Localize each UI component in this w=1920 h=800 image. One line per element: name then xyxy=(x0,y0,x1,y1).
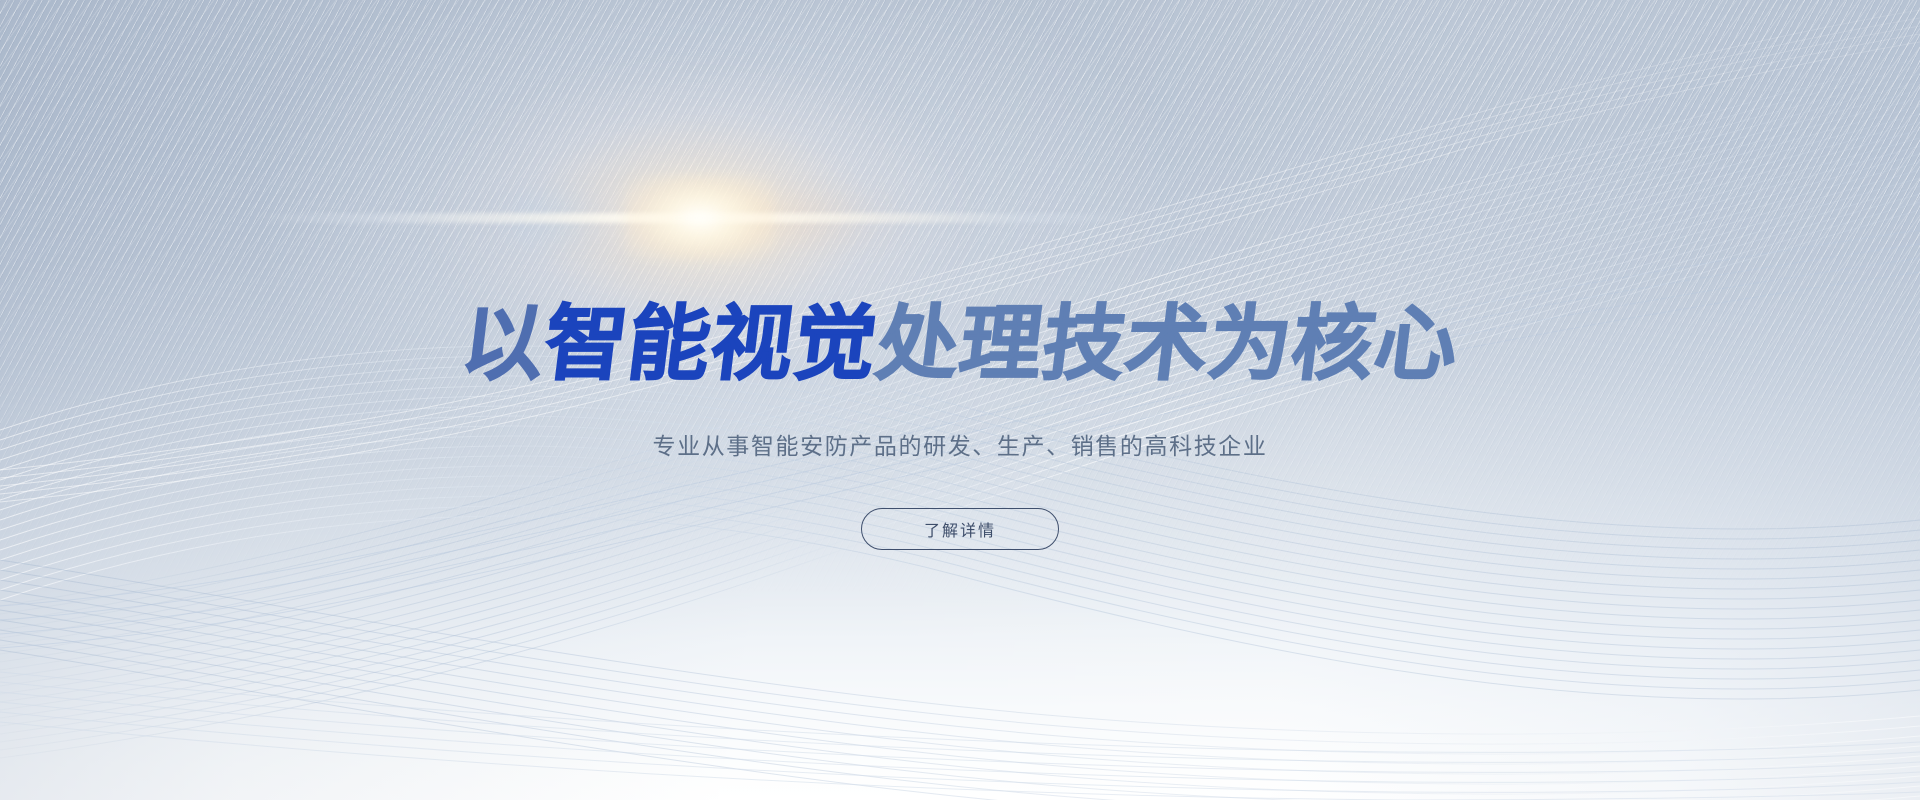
headline-segment-tail: 处理技术为核心 xyxy=(871,297,1464,392)
cta-container: 了解详情 xyxy=(0,508,1920,550)
hero-banner: 以智能视觉处理技术为核心 专业从事智能安防产品的研发、生产、销售的高科技企业 了… xyxy=(0,0,1920,800)
hero-content: 以智能视觉处理技术为核心 专业从事智能安防产品的研发、生产、销售的高科技企业 了… xyxy=(0,0,1920,800)
learn-more-button[interactable]: 了解详情 xyxy=(861,508,1059,550)
headline-segment-lead: 以 xyxy=(456,297,551,392)
headline-segment-accent: 智能视觉 xyxy=(539,297,883,392)
page-subtitle: 专业从事智能安防产品的研发、生产、销售的高科技企业 xyxy=(0,427,1920,461)
page-title: 以智能视觉处理技术为核心 xyxy=(0,301,1920,390)
